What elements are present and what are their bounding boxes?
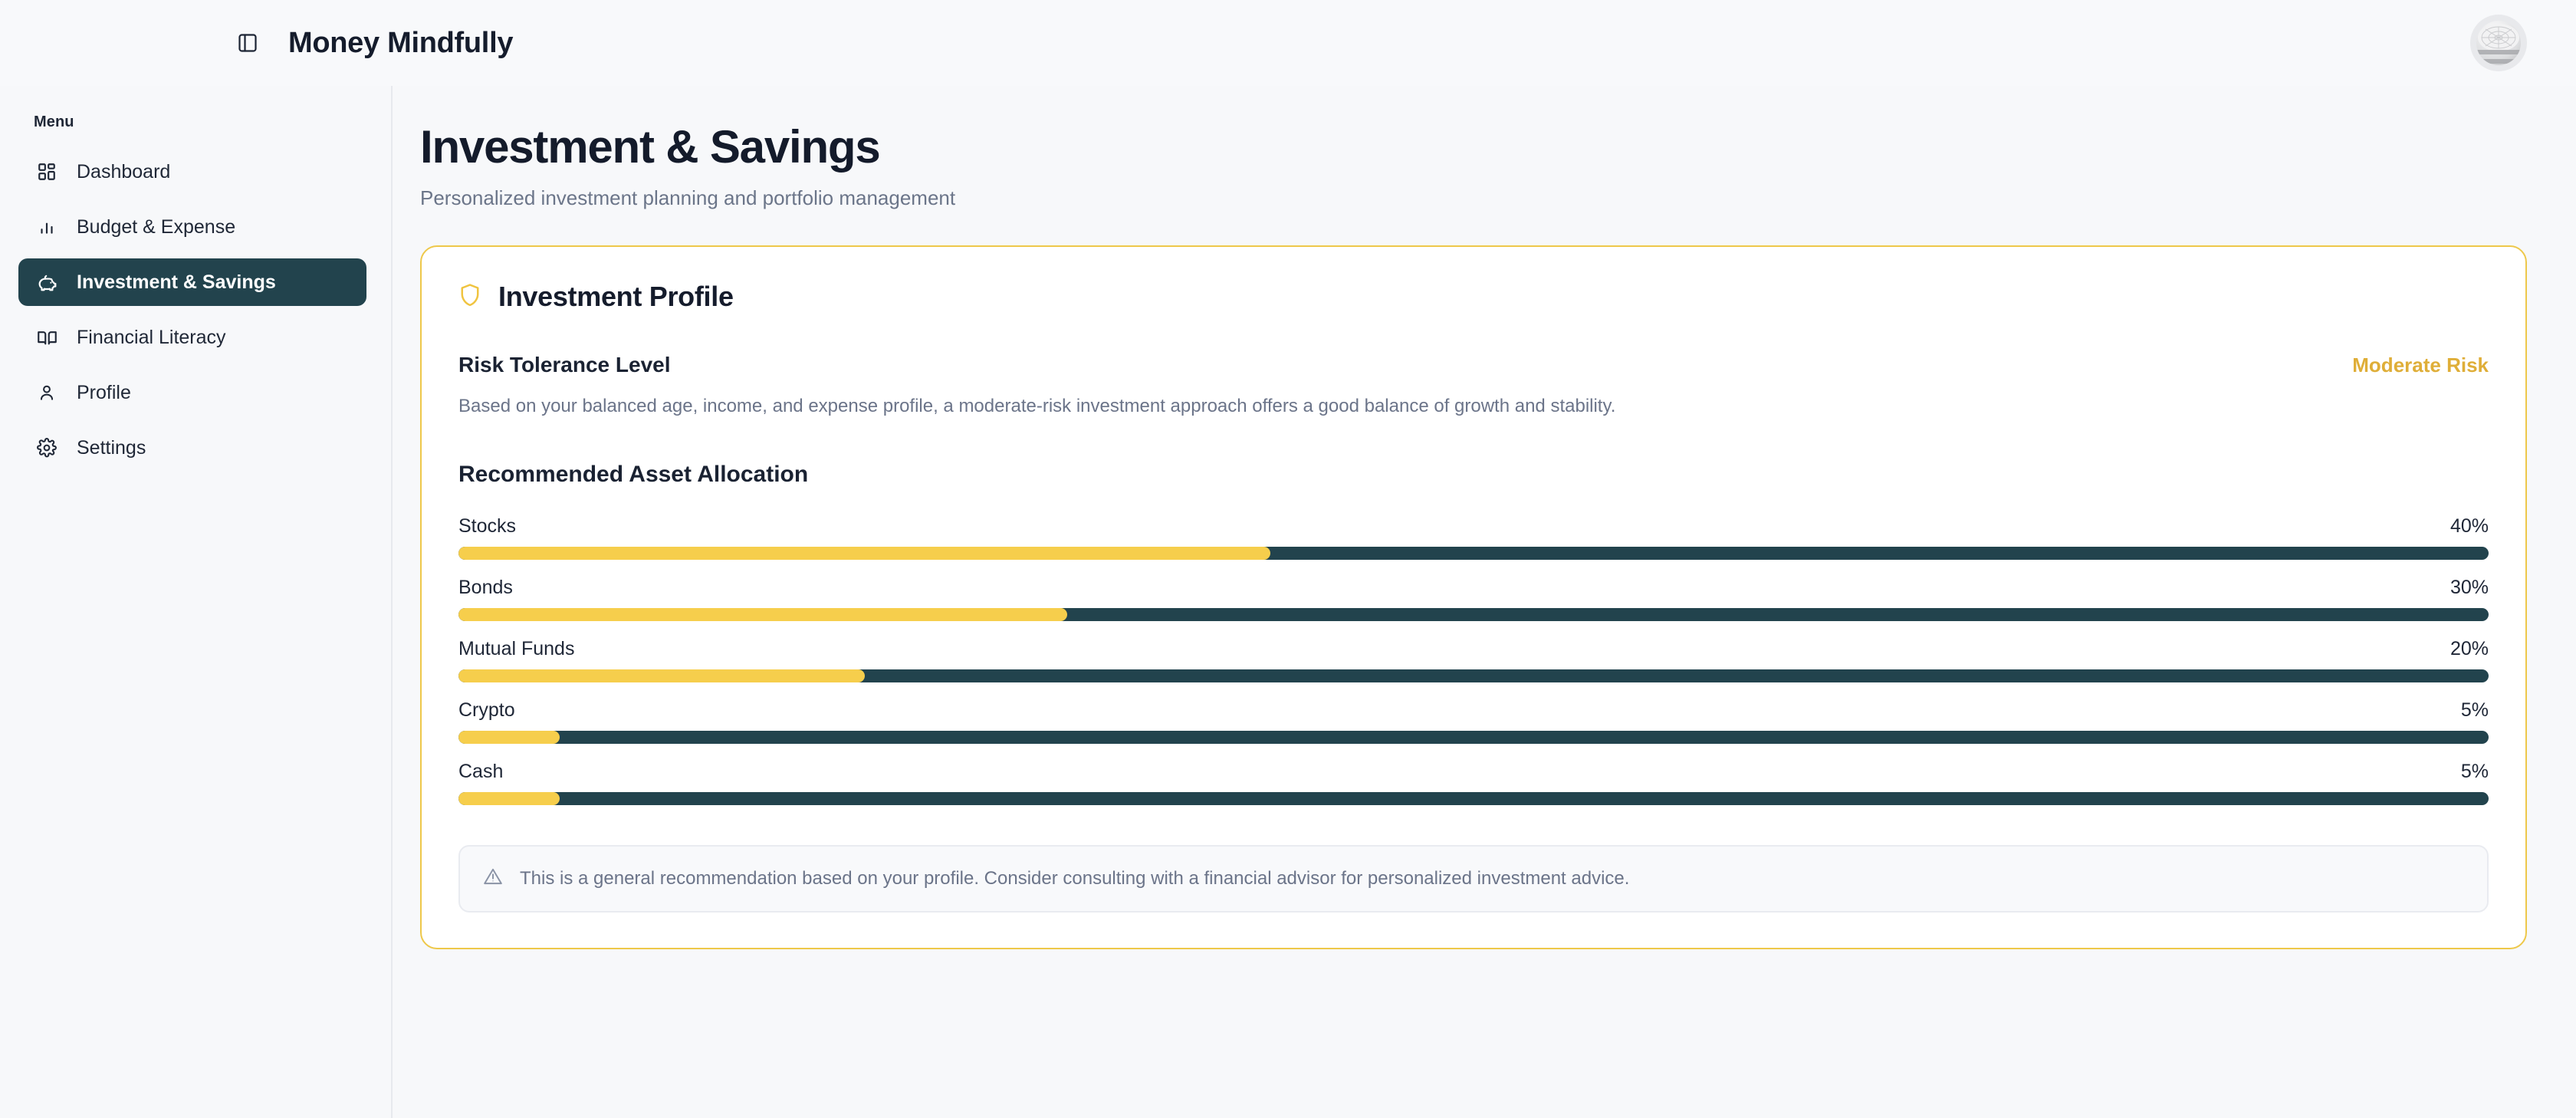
allocation-row: Stocks 40% (458, 515, 2489, 560)
sidebar-item-settings[interactable]: Settings (18, 424, 366, 472)
allocation-bar-fill (458, 669, 865, 682)
allocation-row-header: Stocks 40% (458, 515, 2489, 538)
sidebar-item-label: Budget & Expense (77, 218, 235, 237)
main-content: Investment & Savings Personalized invest… (393, 86, 2576, 1118)
allocation-value: 30% (2450, 577, 2489, 599)
sidebar: Menu Dashboard Budget & Expens (0, 86, 393, 1118)
page-subtitle: Personalized investment planning and por… (420, 186, 2527, 210)
sidebar-item-label: Financial Literacy (77, 328, 226, 347)
risk-tolerance-heading: Risk Tolerance Level (458, 353, 671, 377)
sidebar-item-label: Dashboard (77, 163, 170, 182)
allocation-bar-track (458, 669, 2489, 682)
risk-tolerance-description: Based on your balanced age, income, and … (458, 394, 2489, 419)
card-title: Investment Profile (498, 281, 734, 313)
investment-profile-card: Investment Profile Risk Tolerance Level … (420, 245, 2527, 949)
allocation-bar-fill (458, 547, 1270, 560)
user-icon (35, 381, 58, 404)
shield-icon (458, 282, 481, 312)
asset-allocation-heading: Recommended Asset Allocation (458, 462, 2489, 488)
allocation-bar-fill (458, 608, 1067, 621)
allocation-row: Cash 5% (458, 761, 2489, 805)
risk-tolerance-row: Risk Tolerance Level Moderate Risk (458, 353, 2489, 377)
disclaimer-text: This is a general recommendation based o… (520, 866, 1629, 890)
sidebar-panel-icon[interactable] (230, 25, 265, 61)
asset-allocation-list: Stocks 40% Bonds 30% (458, 515, 2489, 805)
top-bar: Money Mindfully (0, 0, 2576, 86)
allocation-bar-track (458, 608, 2489, 621)
allocation-label: Crypto (458, 699, 515, 722)
sidebar-item-budget-expense[interactable]: Budget & Expense (18, 203, 366, 251)
allocation-bar-fill (458, 792, 560, 805)
allocation-row: Bonds 30% (458, 577, 2489, 621)
status-badge: Moderate Risk (2352, 353, 2489, 377)
brand-title: Money Mindfully (288, 27, 513, 60)
allocation-value: 5% (2461, 761, 2489, 783)
allocation-bar-track (458, 731, 2489, 744)
allocation-label: Cash (458, 761, 503, 783)
allocation-row-header: Crypto 5% (458, 699, 2489, 722)
allocation-row-header: Cash 5% (458, 761, 2489, 783)
allocation-row-header: Bonds 30% (458, 577, 2489, 599)
piggy-bank-icon (35, 271, 58, 294)
sidebar-item-investment-savings[interactable]: Investment & Savings (18, 258, 366, 306)
warning-triangle-icon (483, 866, 503, 890)
avatar[interactable] (2470, 15, 2527, 71)
allocation-value: 40% (2450, 515, 2489, 538)
allocation-label: Stocks (458, 515, 516, 538)
allocation-bar-fill (458, 731, 560, 744)
allocation-value: 20% (2450, 638, 2489, 660)
allocation-bar-track (458, 792, 2489, 805)
sidebar-menu-label: Menu (18, 107, 366, 148)
bar-chart-icon (35, 215, 58, 238)
disclaimer-notice: This is a general recommendation based o… (458, 845, 2489, 912)
allocation-bar-track (458, 547, 2489, 560)
allocation-label: Bonds (458, 577, 513, 599)
sidebar-item-financial-literacy[interactable]: Financial Literacy (18, 314, 366, 361)
allocation-value: 5% (2461, 699, 2489, 722)
open-book-icon (35, 326, 58, 349)
allocation-row: Crypto 5% (458, 699, 2489, 744)
sidebar-item-dashboard[interactable]: Dashboard (18, 148, 366, 196)
gear-icon (35, 436, 58, 459)
page-title: Investment & Savings (420, 123, 2527, 171)
avatar-image (2470, 15, 2527, 71)
allocation-row-header: Mutual Funds 20% (458, 638, 2489, 660)
allocation-label: Mutual Funds (458, 638, 574, 660)
sidebar-item-profile[interactable]: Profile (18, 369, 366, 416)
allocation-row: Mutual Funds 20% (458, 638, 2489, 682)
sidebar-item-label: Investment & Savings (77, 273, 276, 292)
layout-grid-icon (35, 160, 58, 183)
card-header: Investment Profile (458, 281, 2489, 313)
sidebar-item-label: Profile (77, 383, 131, 403)
sidebar-item-label: Settings (77, 439, 146, 458)
app-layout: Menu Dashboard Budget & Expens (0, 86, 2576, 1118)
